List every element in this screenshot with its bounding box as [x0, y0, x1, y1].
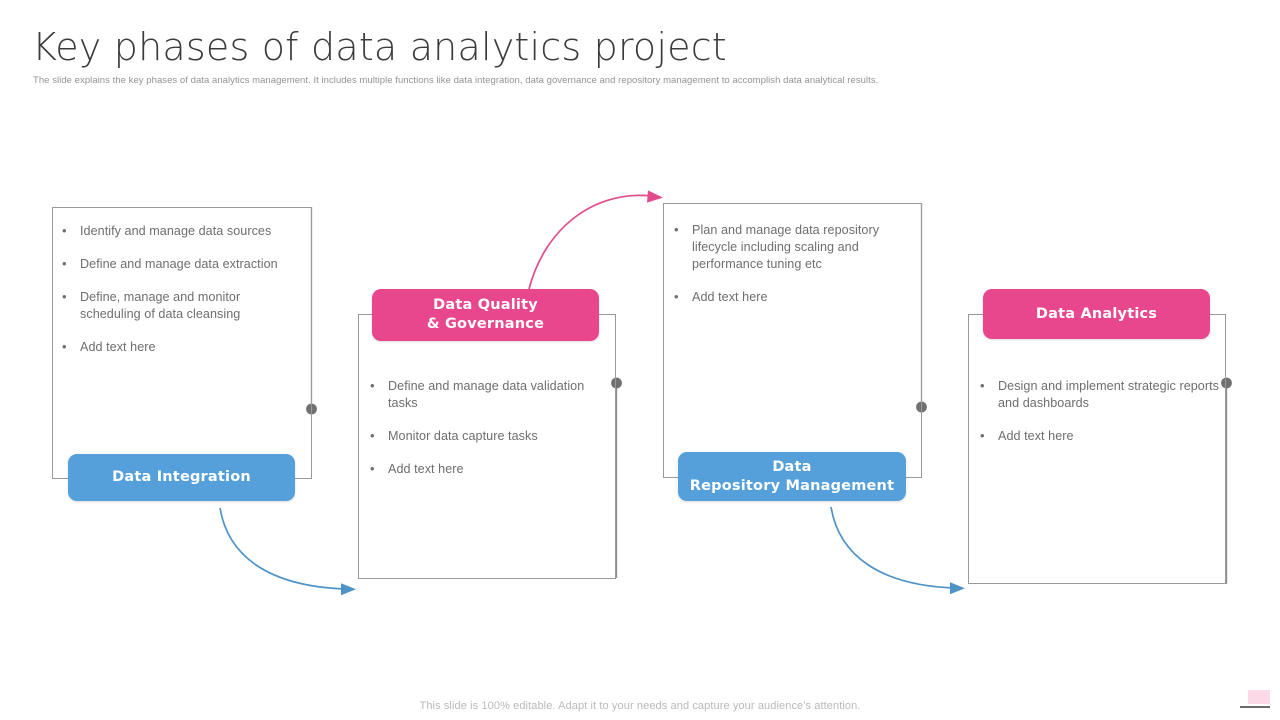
- arrow-integration-to-quality: [220, 508, 356, 595]
- phase-4-bullet-list: Design and implement strategic reports a…: [976, 378, 1221, 445]
- list-item: Define and manage data extraction: [58, 256, 288, 273]
- arrow-quality-to-repository: [529, 190, 663, 289]
- phase-4-panel: [968, 314, 1226, 584]
- phase-3-bullet-list: Plan and manage data repository lifecycl…: [670, 222, 913, 306]
- list-item: Add text here: [366, 461, 596, 478]
- phase-label-data-analytics[interactable]: Data Analytics: [983, 289, 1210, 339]
- footer-note: This slide is 100% editable. Adapt it to…: [0, 700, 1280, 712]
- list-item: Identify and manage data sources: [58, 223, 288, 240]
- list-item: Define and manage data validation tasks: [366, 378, 596, 412]
- phase-1-bullet-list: Identify and manage data sources Define …: [58, 223, 288, 356]
- list-item: Add text here: [670, 289, 913, 306]
- list-item: Plan and manage data repository lifecycl…: [670, 222, 913, 273]
- list-item: Monitor data capture tasks: [366, 428, 596, 445]
- phase-label-data-quality-governance[interactable]: Data Quality & Governance: [372, 289, 599, 341]
- list-item: Define, manage and monitor scheduling of…: [58, 289, 288, 323]
- phase-label-data-integration[interactable]: Data Integration: [68, 454, 295, 501]
- phase-label-data-repository-management[interactable]: Data Repository Management: [678, 452, 906, 501]
- phase-2-bullet-list: Define and manage data validation tasks …: [366, 378, 596, 478]
- arrow-repository-to-analytics: [831, 507, 965, 594]
- corner-swatch: [1248, 690, 1270, 704]
- list-item: Design and implement strategic reports a…: [976, 378, 1221, 412]
- corner-mark: [1240, 690, 1270, 708]
- list-item: Add text here: [58, 339, 288, 356]
- list-item: Add text here: [976, 428, 1221, 445]
- corner-rule: [1240, 706, 1270, 708]
- phase-flow-diagram: Identify and manage data sources Define …: [0, 0, 1280, 720]
